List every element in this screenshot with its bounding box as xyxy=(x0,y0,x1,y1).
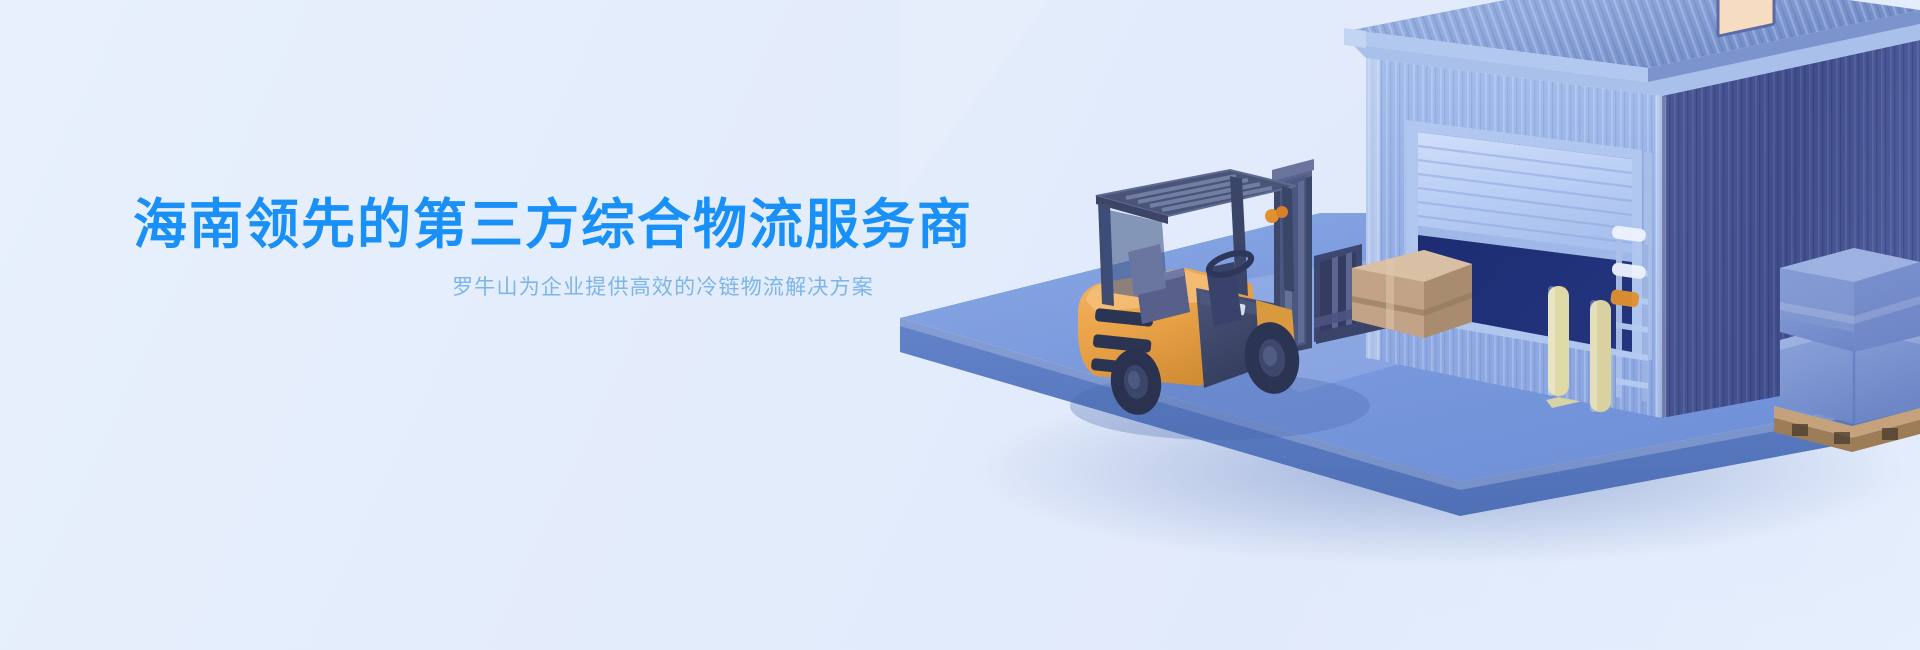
page-subtitle: 罗牛山为企业提供高效的冷链物流解决方案 xyxy=(133,254,1193,300)
hero-copy-block: 海南领先的第三方综合物流服务商 罗牛山为企业提供高效的冷链物流解决方案 xyxy=(133,196,1193,301)
warehouse-forklift-illustration xyxy=(900,0,1920,650)
hero-banner: 海南领先的第三方综合物流服务商 罗牛山为企业提供高效的冷链物流解决方案 xyxy=(0,0,1920,650)
stacked-blue-crates xyxy=(1774,248,1920,452)
illustration-svg xyxy=(900,0,1920,650)
page-title: 海南领先的第三方综合物流服务商 xyxy=(133,196,1193,254)
